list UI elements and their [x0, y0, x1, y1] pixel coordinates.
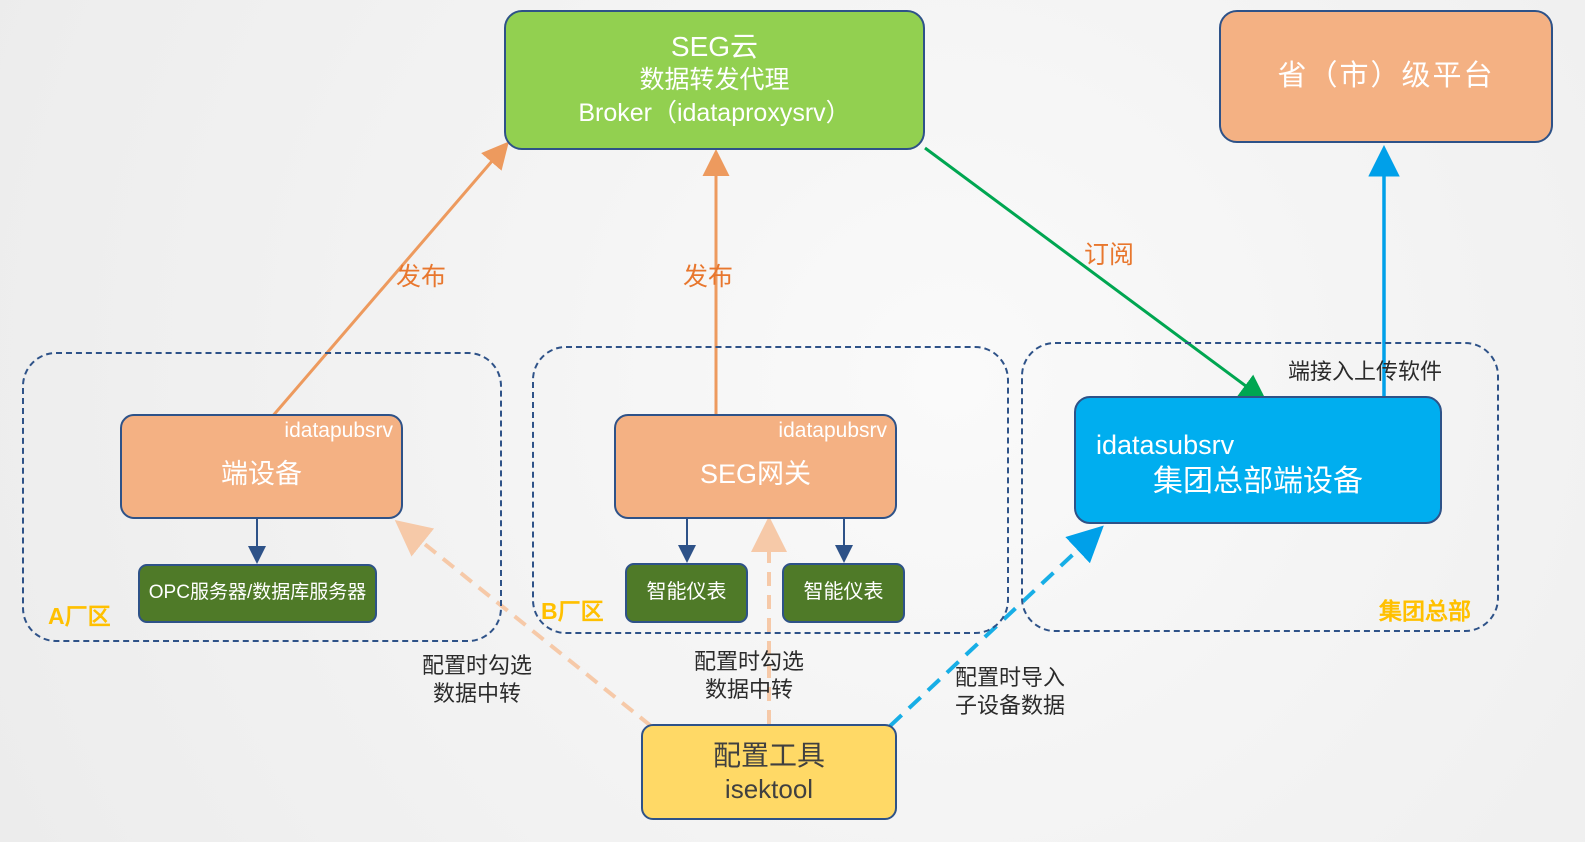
seg-cloud-broker: Broker（idataproxysrv） [578, 99, 850, 129]
seg-cloud-title: SEG云 [671, 30, 758, 63]
node-seg-cloud[interactable]: SEG云 数据转发代理 Broker（idataproxysrv） [504, 10, 925, 150]
edge-label-config-import: 配置时导入 子设备数据 [955, 664, 1065, 719]
node-smart-meter-2[interactable]: 智能仪表 [782, 563, 905, 623]
config-tool-subtitle: isektool [725, 774, 813, 805]
edge-label-publish-b: 发布 [683, 262, 733, 293]
zone-label-factory-b: B厂区 [541, 592, 604, 626]
diagram-canvas: A厂区 B厂区 集团总部 SEG云 数据转发代理 Broker（idatapro… [0, 0, 1585, 842]
config-tool-title: 配置工具 [713, 739, 825, 772]
end-device-title: 端设备 [221, 459, 302, 491]
zone-label-headquarters: 集团总部 [1379, 592, 1471, 626]
node-smart-meter-1[interactable]: 智能仪表 [625, 563, 748, 623]
smart-meter-2-title: 智能仪表 [804, 581, 884, 605]
seg-gateway-service-tag: idatapubsrv [778, 420, 887, 441]
zone-label-factory-a: A厂区 [48, 597, 111, 631]
node-province-platform[interactable]: 省（市）级平台 [1219, 10, 1553, 143]
node-end-device[interactable]: idatapubsrv 端设备 [120, 414, 403, 519]
end-device-service-tag: idatapubsrv [284, 420, 393, 441]
edge-label-config-relay-b: 配置时勾选 数据中转 [694, 648, 804, 703]
node-seg-gateway[interactable]: idatapubsrv SEG网关 [614, 414, 897, 519]
node-opc-server[interactable]: OPC服务器/数据库服务器 [138, 564, 377, 623]
edge-label-upload-software: 端接入上传软件 [1288, 358, 1442, 386]
group-hq-device-service-tag: idatasubsrv [1076, 430, 1440, 462]
group-hq-device-title: 集团总部端设备 [1076, 464, 1440, 499]
seg-gateway-title: SEG网关 [700, 459, 811, 491]
node-config-tool[interactable]: 配置工具 isektool [641, 724, 897, 820]
seg-cloud-subtitle: 数据转发代理 [639, 66, 789, 96]
edge-label-publish-a: 发布 [396, 262, 446, 293]
province-platform-title: 省（市）级平台 [1277, 59, 1494, 93]
node-group-hq-device[interactable]: idatasubsrv 集团总部端设备 [1074, 396, 1442, 524]
edge-label-subscribe: 订阅 [1084, 240, 1134, 271]
smart-meter-1-title: 智能仪表 [647, 581, 727, 605]
opc-server-title: OPC服务器/数据库服务器 [149, 582, 366, 604]
edge-label-config-relay-a: 配置时勾选 数据中转 [422, 652, 532, 707]
